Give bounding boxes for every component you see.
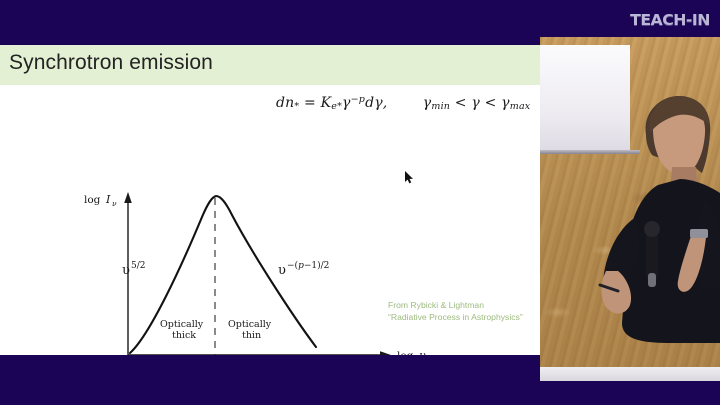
annotation-high-frequency-slope: υ −(p−1)/2 xyxy=(278,260,329,278)
svg-text:thick: thick xyxy=(172,330,196,341)
source-attribution: From Rybicki & Lightman “Radiative Proce… xyxy=(388,299,523,323)
svg-text:Optically: Optically xyxy=(228,319,272,330)
svg-text:υ: υ xyxy=(122,263,130,278)
annotation-region-left: Optically thick xyxy=(160,319,204,341)
microphone xyxy=(644,221,660,287)
speaker-video-feed[interactable]: OWL xyxy=(540,37,720,381)
svg-text:thin: thin xyxy=(242,330,261,341)
presenter-watch xyxy=(690,229,708,238)
slide-header-band: Synchrotron emission xyxy=(0,45,540,85)
attribution-line-2: “Radiative Process in Astrophysics” xyxy=(388,311,523,323)
mouse-cursor xyxy=(405,171,414,184)
page-title: Synchrotron emission xyxy=(9,51,213,75)
screen-capture: TEACH-IN Synchrotron emission dn* = Ke*γ… xyxy=(0,0,720,405)
svg-text:ν: ν xyxy=(112,199,117,208)
teachin-logo: TEACH-IN xyxy=(630,11,710,29)
bottom-navy-band xyxy=(0,381,720,405)
teachin-logo-text: TEACH-IN xyxy=(630,11,710,29)
svg-text:−(p−1)/2: −(p−1)/2 xyxy=(287,260,329,271)
svg-text:υ: υ xyxy=(278,263,286,278)
presentation-slide[interactable]: Synchrotron emission dn* = Ke*γ−pdγ, γmi… xyxy=(0,45,540,355)
presenter-figure xyxy=(540,37,720,381)
slide-body: dn* = Ke*γ−pdγ, γmin < γ < γmax xyxy=(0,85,540,355)
spectrum-curve xyxy=(130,196,316,353)
annotation-low-frequency-slope: υ 5/2 xyxy=(122,261,145,278)
svg-text:I: I xyxy=(105,193,111,206)
attribution-line-1: From Rybicki & Lightman xyxy=(388,299,523,311)
svg-text:Optically: Optically xyxy=(160,319,204,330)
svg-text:5/2: 5/2 xyxy=(131,261,145,271)
svg-text:log: log xyxy=(84,194,101,206)
y-axis-label: log I ν xyxy=(84,193,117,208)
annotation-region-right: Optically thin xyxy=(228,319,272,341)
